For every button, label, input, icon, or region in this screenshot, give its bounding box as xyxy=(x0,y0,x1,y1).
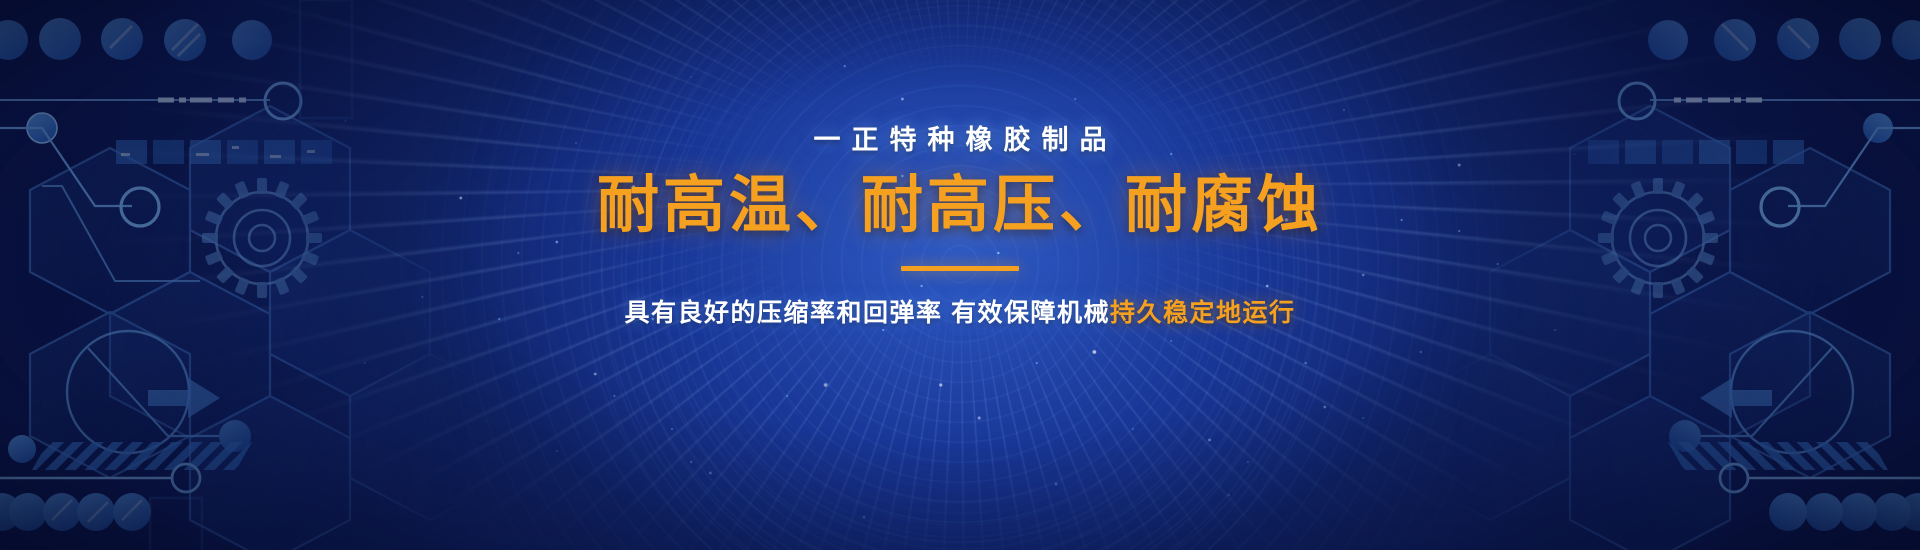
hero-subtitle: 具有良好的压缩率和回弹率 有效保障机械持久稳定地运行 xyxy=(0,293,1920,329)
hatched-stripe-bar-icon xyxy=(32,442,252,470)
hero-banner: 一正特种橡胶制品 耐高温、耐高压、耐腐蚀 具有良好的压缩率和回弹率 有效保障机械… xyxy=(0,0,1920,550)
brand-eyebrow: 一正特种橡胶制品 xyxy=(0,118,1920,157)
sphere-dot-icon xyxy=(0,18,272,61)
page-title: 耐高温、耐高压、耐腐蚀 xyxy=(0,173,1920,240)
hatched-stripe-bar-icon xyxy=(1668,442,1888,470)
sphere-dot-icon xyxy=(1648,18,1920,61)
subtitle-white-part: 具有良好的压缩率和回弹率 有效保障机械 xyxy=(625,299,1110,327)
hero-text-block: 一正特种橡胶制品 耐高温、耐高压、耐腐蚀 具有良好的压缩率和回弹率 有效保障机械… xyxy=(0,118,1920,329)
sphere-dot-icon xyxy=(1769,493,1920,531)
sphere-dot-icon xyxy=(0,493,151,531)
subtitle-orange-part: 持久稳定地运行 xyxy=(1110,299,1296,327)
title-divider xyxy=(901,266,1019,271)
